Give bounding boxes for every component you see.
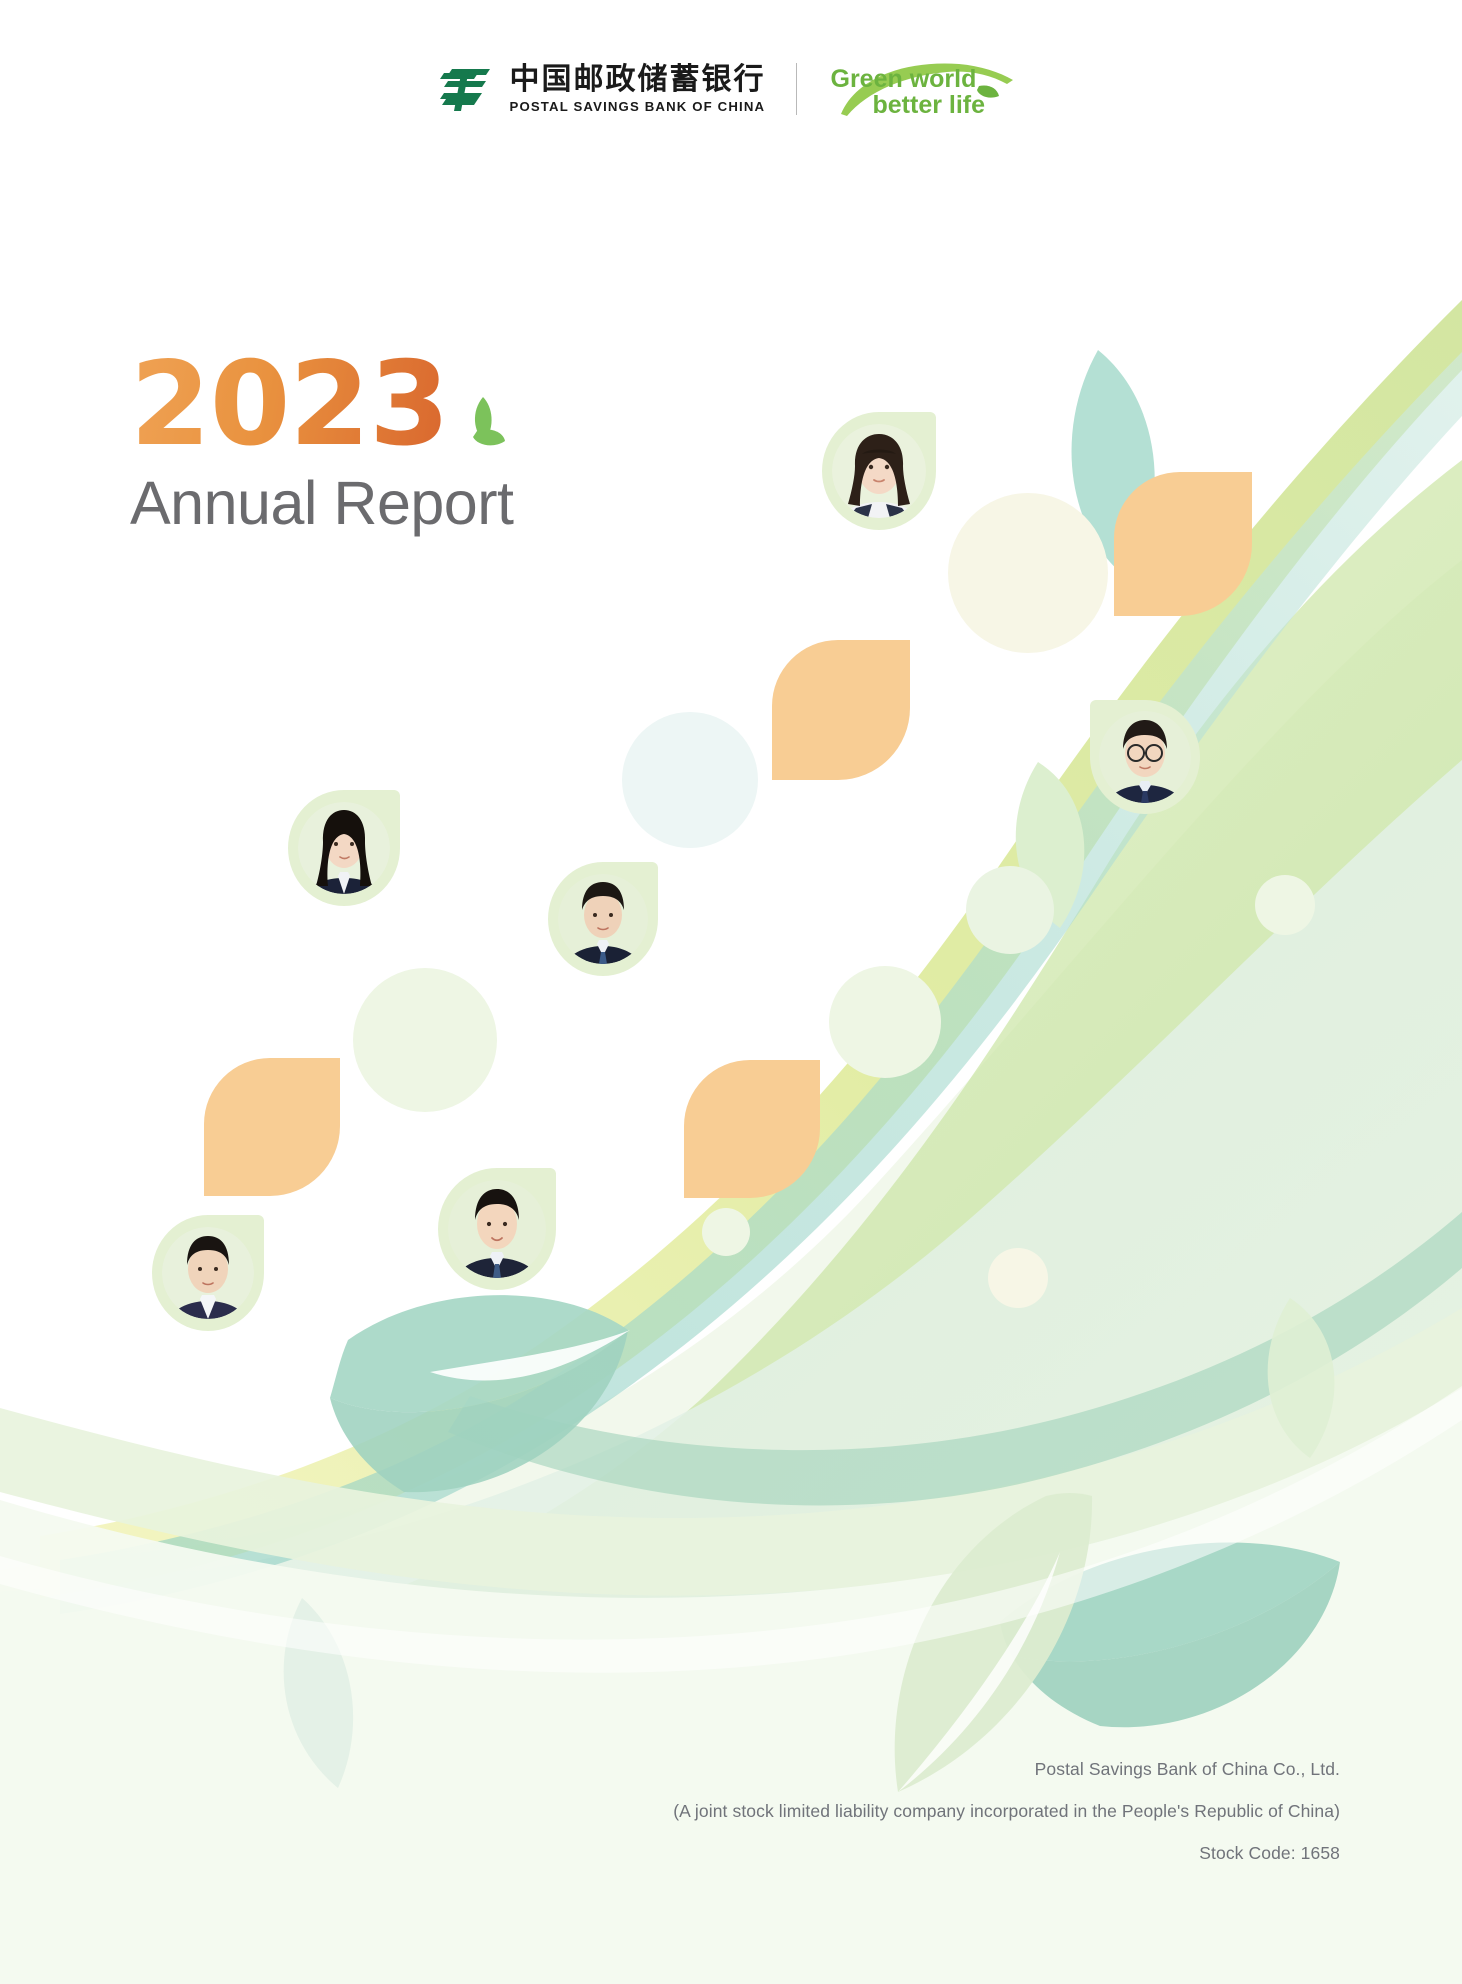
decor-leaf-bottom-small <box>284 1598 353 1788</box>
portrait-photo-2 <box>1099 711 1191 803</box>
annual-report-cover: 中国邮政储蓄银行 POSTAL SAVINGS BANK OF CHINA Gr… <box>0 0 1462 1984</box>
decor-circle-pale-green-1 <box>353 968 497 1112</box>
portrait-executive-3 <box>288 790 400 906</box>
decor-leaf-orange-2 <box>1114 472 1180 616</box>
decor-leaf-pale-bottom-vein <box>898 1552 1060 1792</box>
decor-leaf-teal-right-b <box>1012 1562 1340 1727</box>
decor-circle-pale-green-4 <box>702 1208 750 1256</box>
decor-circle-cream-1 <box>948 493 1108 653</box>
logo-divider <box>796 63 797 115</box>
decor-circle-pale-green-3 <box>966 866 1054 954</box>
title-leaf-icon <box>453 391 505 451</box>
decor-leaf-orange-4 <box>684 1060 750 1198</box>
portrait-executive-2 <box>1090 700 1200 814</box>
decor-circle-pale-green-2 <box>829 966 941 1078</box>
decor-leaf-teal-large <box>330 1295 628 1412</box>
portrait-executive-4 <box>548 862 658 976</box>
tagline-green-world-better-life: Green world better life <box>829 58 1025 120</box>
decor-leaf-orange-3 <box>204 1058 270 1196</box>
decor-leaf-orange-4-tail <box>750 1060 820 1198</box>
bg-curve-accent-1 <box>0 1386 1462 1673</box>
bg-swoosh-teal <box>448 1212 1462 1505</box>
portrait-photo-6 <box>448 1180 546 1278</box>
decor-leaf-pale-bottom <box>895 1493 1092 1792</box>
header-logo-bar: 中国邮政储蓄银行 POSTAL SAVINGS BANK OF CHINA Gr… <box>0 58 1462 120</box>
decor-leaf-pointed-teal-topright <box>1072 350 1155 580</box>
report-year: 2023 <box>130 352 449 459</box>
portrait-executive-1 <box>822 412 936 530</box>
decor-circle-pale-green-5 <box>1255 875 1315 935</box>
bg-ribbon-teal <box>60 352 1462 1614</box>
psbc-logo-text: 中国邮政储蓄银行 POSTAL SAVINGS BANK OF CHINA <box>510 64 766 114</box>
background-artwork <box>0 0 1462 1984</box>
year-row: 2023 <box>130 352 513 459</box>
bank-name-en: POSTAL SAVINGS BANK OF CHINA <box>510 99 766 114</box>
decor-leaf-vein-white <box>430 1330 630 1380</box>
decor-leaf-pointed-green-mid <box>1016 762 1085 928</box>
decor-leaf-orange-2-tail <box>1180 472 1252 616</box>
report-subtitle: Annual Report <box>130 473 513 534</box>
bank-name-cn: 中国邮政储蓄银行 <box>510 64 766 96</box>
portrait-photo-3 <box>298 802 390 894</box>
decor-leaf-orange-1-tail <box>838 640 910 780</box>
tagline-line-1: Green world <box>831 65 977 94</box>
footer-company-name: Postal Savings Bank of China Co., Ltd. <box>673 1759 1340 1780</box>
portrait-photo-4 <box>558 874 648 964</box>
cover-title-block: 2023 Annual Report <box>130 352 513 534</box>
decor-leaf-teal-large-b <box>330 1330 628 1492</box>
decor-leaf-teal-right <box>1000 1542 1340 1661</box>
psbc-logo-mark <box>438 67 496 111</box>
decor-circle-cream-2 <box>988 1248 1048 1308</box>
footer-incorporation-note: (A joint stock limited liability company… <box>673 1801 1340 1822</box>
decor-leaf-orange-1 <box>772 640 838 780</box>
psbc-logo-lockup: 中国邮政储蓄银行 POSTAL SAVINGS BANK OF CHINA <box>438 64 796 114</box>
footer-stock-code: Stock Code: 1658 <box>673 1843 1340 1864</box>
portrait-photo-1 <box>832 424 926 518</box>
cover-footer: Postal Savings Bank of China Co., Ltd. (… <box>673 1759 1340 1864</box>
portrait-executive-6 <box>438 1168 556 1290</box>
portrait-photo-5 <box>162 1227 254 1319</box>
bg-sweep-bottom-left <box>0 1308 1462 1596</box>
decor-leaf-orange-3-tail <box>270 1058 340 1196</box>
bg-sweep-lower <box>0 1388 1462 1984</box>
decor-circle-pale-teal-1 <box>622 712 758 848</box>
portrait-executive-5 <box>152 1215 264 1331</box>
tagline-line-2: better life <box>873 91 986 120</box>
decor-leaf-pointed-green-br <box>1268 1298 1335 1458</box>
